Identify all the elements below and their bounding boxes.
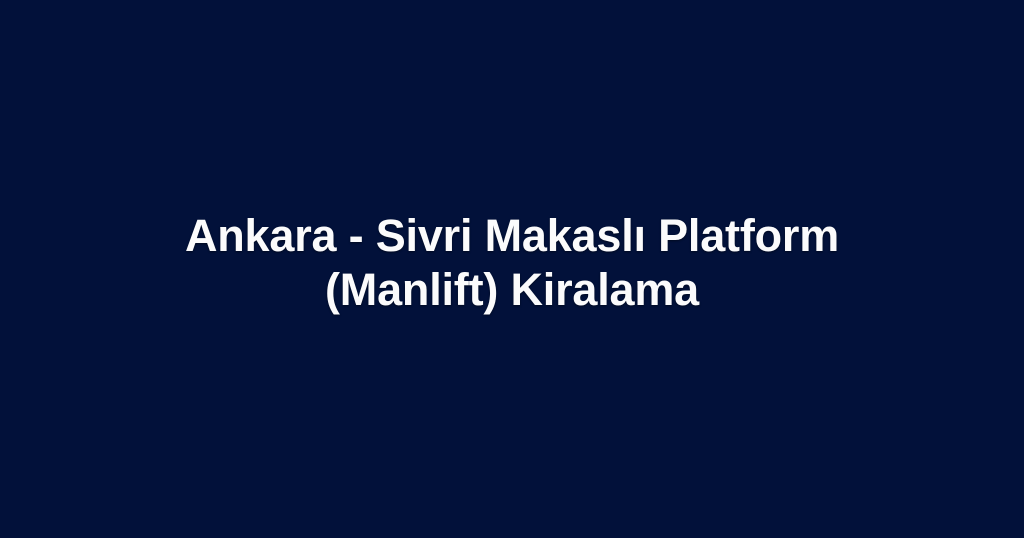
page-title-line-2: (Manlift) Kiralama xyxy=(62,263,962,317)
share-card: Ankara - Sivri Makaslı Platform (Manlift… xyxy=(0,0,1024,538)
page-title-line-1: Ankara - Sivri Makaslı Platform xyxy=(62,209,962,263)
page-title: Ankara - Sivri Makaslı Platform (Manlift… xyxy=(62,209,962,329)
